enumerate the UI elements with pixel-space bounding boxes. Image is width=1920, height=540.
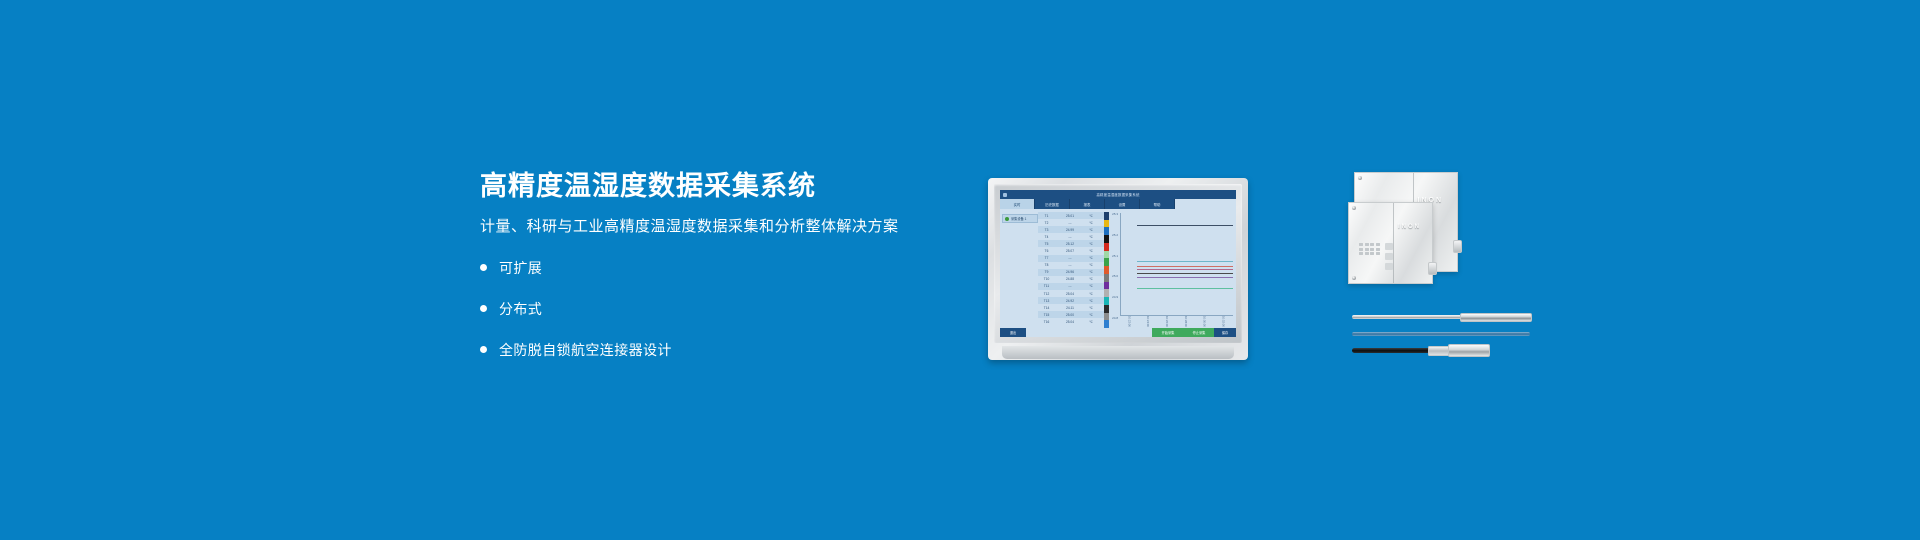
table-cell: T16 [1038,320,1055,324]
list-item: 可扩展 [480,258,950,278]
table-cell: ℃ [1085,277,1097,281]
probe-cable-blue [1352,331,1532,337]
table-row[interactable]: T324.99℃ [1038,226,1104,233]
table-cell: --- [1055,221,1085,225]
terminal-block-grid [1359,243,1380,255]
table-cell: --- [1055,235,1085,239]
app-title: 高精度温湿度数据采集系统 [1000,192,1236,197]
bullet-dot-icon [480,264,487,271]
screw-icon [1352,206,1356,210]
feature-label: 全防脱自锁航空连接器设计 [499,340,672,360]
probe-housing [1460,313,1532,322]
label-chip [1385,253,1393,260]
table-cell: 25.01 [1055,214,1085,218]
table-cell: 25.07 [1055,249,1085,253]
product-banner: 高精度温湿度数据采集系统 计量、科研与工业高精度温湿度数据采集和分析整体解决方案… [0,0,1920,540]
table-cell: ℃ [1085,292,1097,296]
table-row[interactable]: T125.01℃ [1038,212,1104,219]
table-cell: ℃ [1085,284,1097,288]
table-cell: 24.88 [1055,277,1085,281]
feature-label: 分布式 [499,299,542,319]
table-cell: 24.96 [1055,270,1085,274]
tabbar-filler [1175,199,1236,209]
exit-button[interactable]: 退出 [1000,328,1026,337]
table-row[interactable]: T2---℃ [1038,219,1104,226]
tab-report[interactable]: 报表 [1070,199,1105,209]
screw-icon [1358,176,1362,180]
table-row[interactable]: T1024.88℃ [1038,276,1104,283]
list-item: 分布式 [480,299,950,319]
table-cell: 25.00 [1055,313,1085,317]
chart-x-axis: 10:22:0010:24:0010:26:0010:28:0010:30:00… [1120,316,1233,328]
table-cell: ℃ [1085,270,1097,274]
tab-help[interactable]: 帮助 [1140,199,1175,209]
table-cell: T7 [1038,256,1055,260]
chart-plot-area [1120,213,1233,316]
chart-y-tick-label: 24.9 [1112,295,1118,299]
table-cell: ℃ [1085,320,1097,324]
feature-label: 可扩展 [499,258,542,278]
connector-port [1453,240,1462,253]
probe-shaft [1352,315,1464,319]
table-cell: ℃ [1085,249,1097,253]
start-button-label: 开始采集 [1162,330,1175,335]
monitor-screen: 高精度温湿度数据采集系统 实时 历史数据 报表 设置 帮助 [1000,190,1236,337]
tab-label: 设置 [1119,202,1126,207]
table-cell: T15 [1038,313,1055,317]
chart-x-tick-label: 10:28:00 [1184,316,1188,328]
table-row[interactable]: T525.12℃ [1038,240,1104,247]
table-cell: T12 [1038,292,1055,296]
table-cell: T11 [1038,284,1055,288]
table-cell: T9 [1038,270,1055,274]
table-cell: 24.92 [1055,299,1085,303]
table-cell: --- [1055,263,1085,267]
chart-series-line [1137,277,1233,278]
chart-y-tick-label: 25.1 [1112,254,1118,258]
screw-icon [1352,276,1356,280]
table-row[interactable]: T924.96℃ [1038,269,1104,276]
table-cell: --- [1055,256,1085,260]
list-item: 全防脱自锁航空连接器设计 [480,340,950,360]
app-titlebar: 高精度温湿度数据采集系统 [1000,190,1236,199]
table-row[interactable]: T625.07℃ [1038,247,1104,254]
chart-x-tick-label: 10:22:00 [1127,316,1131,328]
device-tree-pane: 采集设备 1 [1002,212,1038,328]
table-row[interactable]: T4---℃ [1038,233,1104,240]
table-cell: T4 [1038,235,1055,239]
exit-button-label: 退出 [1010,330,1016,335]
table-row[interactable]: T7---℃ [1038,255,1104,262]
chart-y-tick-label: 25.3 [1112,212,1118,216]
table-cell: 25.04 [1055,292,1085,296]
statusbar-spacer [1026,328,1152,337]
device-tree-node[interactable]: 采集设备 1 [1002,214,1038,223]
table-cell: ℃ [1085,263,1097,267]
table-cell: ℃ [1085,313,1097,317]
panel-seam [1393,203,1394,283]
chart-x-tick-label: 10:24:00 [1146,316,1150,328]
cable-blue [1352,332,1530,336]
chart-y-tick-label: 25.2 [1112,233,1118,237]
connector-port [1428,262,1437,275]
bullet-dot-icon [480,346,487,353]
chart-series-line [1137,269,1233,270]
table-cell: ℃ [1085,221,1097,225]
bullet-dot-icon [480,305,487,312]
table-cell: T2 [1038,221,1055,225]
feature-list: 可扩展 分布式 全防脱自锁航空连接器设计 [480,258,950,360]
table-cell: ℃ [1085,242,1097,246]
table-cell: ℃ [1085,256,1097,260]
cable-black [1352,348,1436,353]
brand-logo: INON [1398,224,1421,230]
start-acquisition-button[interactable]: 开始采集 [1152,328,1184,337]
table-cell: T5 [1038,242,1055,246]
chart-x-tick-label: 10:30:00 [1203,316,1207,328]
label-chip [1385,243,1393,250]
app-body: 采集设备 1 T125.01℃T2---℃T324.99℃T4---℃T525.… [1000,209,1236,328]
table-row[interactable]: T1225.04℃ [1038,290,1104,297]
table-cell: T8 [1038,263,1055,267]
page-subtitle: 计量、科研与工业高精度温湿度数据采集和分析整体解决方案 [480,218,950,236]
table-cell: ℃ [1085,228,1097,232]
table-row[interactable]: T11---℃ [1038,283,1104,290]
enclosure-front-unit: INON [1348,202,1433,284]
table-cell: ℃ [1085,299,1097,303]
monitor-base [1002,346,1234,359]
save-button[interactable]: 保存 [1214,328,1236,337]
table-row[interactable]: T1324.92℃ [1038,297,1104,304]
chart-series-line [1137,225,1233,226]
tab-label: 帮助 [1154,202,1161,207]
table-cell: --- [1055,284,1085,288]
table-cell: T1 [1038,214,1055,218]
table-cell: T6 [1038,249,1055,253]
table-cell: 25.12 [1055,242,1085,246]
trend-chart: 25.325.225.125.024.924.8 10:22:0010:24:0… [1109,212,1234,328]
app-tabbar: 实时 历史数据 报表 设置 帮助 [1000,199,1236,209]
table-cell: T10 [1038,277,1055,281]
table-cell: 25.04 [1055,320,1085,324]
stop-acquisition-button[interactable]: 停止采集 [1184,328,1214,337]
chart-series-line [1137,288,1233,289]
tab-realtime[interactable]: 实时 [1000,199,1035,209]
table-cell: 24.11 [1055,306,1085,310]
probe-aviation-connector [1352,344,1532,357]
device-status-icon [1005,217,1009,221]
chart-x-tick-label: 10:26:00 [1165,316,1169,328]
chart-y-axis: 25.325.225.125.024.924.8 [1109,212,1119,316]
probe-rtd-stem [1352,312,1532,321]
channel-table: T125.01℃T2---℃T324.99℃T4---℃T525.12℃T625… [1038,212,1104,328]
app-statusbar: 退出 开始采集 停止采集 保存 [1000,328,1236,337]
table-cell: 24.99 [1055,228,1085,232]
chart-series-line [1137,261,1233,262]
table-cell: T14 [1038,306,1055,310]
chart-series-line [1137,266,1233,267]
table-cell: T13 [1038,299,1055,303]
tab-label: 报表 [1084,202,1091,207]
table-row[interactable]: T1525.00℃ [1038,311,1104,318]
stop-button-label: 停止采集 [1193,330,1206,335]
chart-series-line [1137,273,1233,274]
chart-y-tick-label: 24.8 [1112,316,1118,320]
table-cell: T3 [1038,228,1055,232]
tab-label: 实时 [1014,202,1021,207]
table-row[interactable]: T1625.04℃ [1038,318,1104,325]
aviation-connector [1448,344,1490,357]
save-button-label: 保存 [1222,330,1228,335]
monitor-device: 高精度温湿度数据采集系统 实时 历史数据 报表 设置 帮助 [988,178,1248,360]
tab-settings[interactable]: 设置 [1105,199,1140,209]
table-cell: ℃ [1085,214,1097,218]
tab-label: 历史数据 [1045,202,1059,207]
chart-x-tick-label: 10:32:00 [1222,316,1226,328]
label-chip [1385,263,1393,270]
table-cell: ℃ [1085,235,1097,239]
table-cell: ℃ [1085,306,1097,310]
device-tree-label: 采集设备 1 [1011,216,1026,221]
table-row[interactable]: T8---℃ [1038,262,1104,269]
page-title: 高精度温湿度数据采集系统 [480,172,950,202]
banner-text-block: 高精度温湿度数据采集系统 计量、科研与工业高精度温湿度数据采集和分析整体解决方案… [480,172,950,381]
table-row[interactable]: T1424.11℃ [1038,304,1104,311]
tab-history[interactable]: 历史数据 [1035,199,1070,209]
chart-y-tick-label: 25.0 [1112,274,1118,278]
